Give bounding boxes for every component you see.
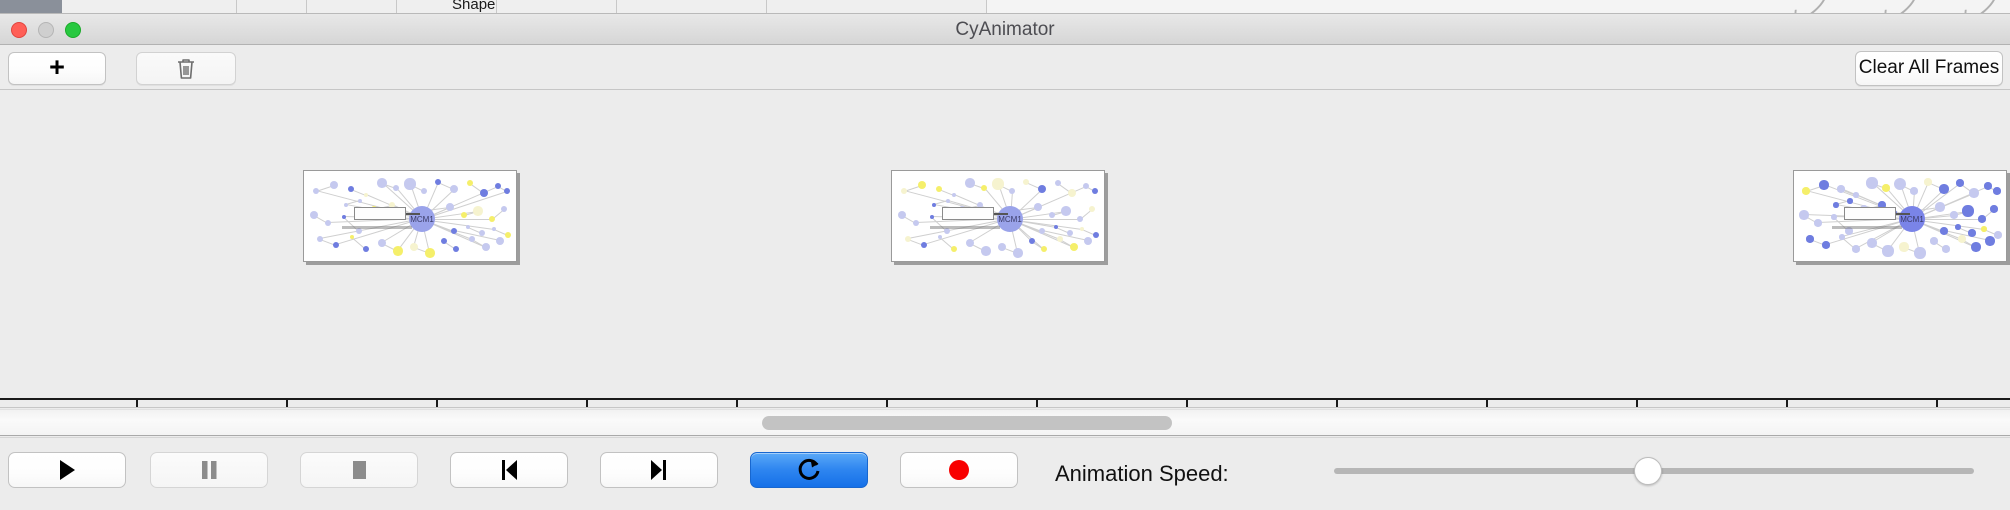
network-node — [330, 181, 338, 189]
network-node — [951, 246, 957, 252]
network-node — [313, 188, 319, 194]
network-node — [965, 178, 975, 188]
network-node — [421, 188, 427, 194]
network-thumbnail: MCM1 — [892, 171, 1104, 261]
network-node — [1882, 184, 1889, 191]
tick-major — [1786, 400, 1788, 408]
background-window-cell-1 — [62, 0, 237, 14]
network-node — [918, 181, 926, 189]
network-node — [310, 211, 318, 219]
network-node — [1093, 232, 1099, 238]
tick-minor — [736, 400, 738, 408]
tick-minor — [136, 400, 138, 408]
stop-button[interactable] — [300, 452, 418, 488]
tick-minor — [436, 400, 438, 408]
network-thumbnail: MCM1 — [304, 171, 516, 261]
network-node — [1969, 188, 1978, 197]
network-node — [496, 237, 504, 245]
network-node — [1814, 219, 1821, 226]
network-node — [921, 242, 927, 248]
network-caption — [1832, 226, 1902, 229]
network-node — [1993, 187, 2000, 194]
network-thumbnail: MCM1 — [1794, 171, 2006, 261]
animation-speed-label: Animation Speed: — [1055, 461, 1229, 487]
network-node — [1978, 215, 1985, 222]
trash-icon — [175, 57, 197, 81]
network-node — [1833, 202, 1839, 208]
network-node — [1939, 184, 1948, 193]
tick-minor — [1636, 400, 1638, 408]
network-node — [1853, 192, 1859, 198]
network-tooltip-pointer — [994, 213, 1008, 215]
skip-forward-icon — [647, 457, 671, 483]
network-node — [998, 243, 1006, 251]
loop-icon — [796, 456, 822, 484]
network-node — [1942, 245, 1949, 252]
background-window-strip: Shape — [0, 0, 2010, 14]
network-node — [1067, 230, 1073, 236]
tick-minor — [1336, 400, 1338, 408]
network-node — [1882, 245, 1893, 256]
background-window-label: Shape — [452, 0, 495, 13]
skip-back-icon — [497, 457, 521, 483]
network-node — [1955, 224, 1961, 230]
toolbar: + Clear All Frames — [0, 46, 2010, 90]
network-node — [377, 178, 387, 188]
network-tooltip-pointer — [406, 213, 420, 215]
network-node — [1061, 206, 1071, 216]
network-node — [1940, 227, 1947, 234]
network-node — [333, 242, 339, 248]
network-caption — [342, 226, 412, 229]
network-node — [966, 239, 974, 247]
record-button[interactable] — [900, 452, 1018, 488]
network-node — [1068, 189, 1076, 197]
pause-button[interactable] — [150, 452, 268, 488]
network-node — [325, 220, 331, 226]
network-node — [1956, 179, 1963, 186]
tick-major — [1486, 400, 1488, 408]
network-node — [1041, 246, 1047, 252]
background-window-cell-7 — [767, 0, 987, 14]
window-title: CyAnimator — [0, 19, 2010, 41]
network-node — [1994, 231, 2001, 238]
network-node — [446, 203, 454, 211]
network-hub-node: MCM1 — [1899, 206, 1925, 232]
network-caption — [930, 226, 1000, 229]
network-node — [473, 206, 483, 216]
network-node — [1962, 205, 1973, 216]
network-node — [1910, 187, 1917, 194]
timeline-scrollbar[interactable] — [0, 409, 2010, 436]
network-node — [1034, 203, 1042, 211]
network-node — [480, 189, 488, 197]
tick-major — [286, 400, 288, 408]
network-node — [1924, 178, 1931, 185]
network-tooltip-pointer — [1896, 213, 1910, 215]
keyframe-thumbnail-1[interactable]: MCM1 — [303, 170, 517, 262]
network-node — [1958, 235, 1965, 242]
background-window-titlebar — [0, 0, 62, 14]
network-node — [981, 246, 991, 256]
tick-major — [586, 400, 588, 408]
network-node — [501, 206, 507, 212]
network-node — [404, 178, 415, 189]
network-node — [1819, 180, 1828, 189]
network-node — [1089, 206, 1095, 212]
playback-control-bar: Animation Speed: — [0, 437, 2010, 510]
network-node — [1847, 198, 1853, 204]
plus-icon: + — [49, 54, 65, 81]
network-node — [1990, 205, 1997, 212]
network-node — [1981, 226, 1987, 232]
network-tooltip-box — [354, 207, 406, 220]
clear-all-frames-button[interactable]: Clear All Frames — [1855, 51, 2003, 86]
background-network-edge-1 — [1789, 0, 1833, 14]
network-node — [453, 246, 459, 252]
network-node — [1935, 202, 1944, 211]
network-node — [1984, 182, 1991, 189]
network-node — [1092, 188, 1098, 194]
network-hub-node: MCM1 — [409, 206, 435, 232]
network-node — [363, 246, 369, 252]
network-node — [364, 193, 369, 198]
network-node — [1867, 238, 1876, 247]
tick-minor — [1936, 400, 1938, 408]
add-frame-button[interactable]: + — [8, 52, 106, 85]
background-window-cell-6 — [617, 0, 767, 14]
background-window-cell-3 — [307, 0, 397, 14]
tick-minor — [1036, 400, 1038, 408]
network-node — [1049, 212, 1055, 218]
title-bar: CyAnimator — [0, 14, 2010, 45]
network-node — [1930, 237, 1937, 244]
keyframe-thumbnail-3[interactable]: MCM1 — [1793, 170, 2007, 262]
record-icon — [946, 457, 972, 483]
network-node — [932, 203, 937, 208]
network-node — [898, 211, 906, 219]
network-node — [1831, 214, 1837, 220]
network-node — [1968, 229, 1975, 236]
network-tooltip-box — [942, 207, 994, 220]
network-node — [1070, 243, 1078, 251]
network-node — [1852, 245, 1859, 252]
network-hub-node: MCM1 — [997, 206, 1023, 232]
network-node — [1013, 248, 1023, 258]
network-node — [901, 188, 907, 194]
timeline-axis — [0, 398, 2010, 400]
network-node — [450, 185, 458, 193]
network-node — [1839, 234, 1845, 240]
network-node — [344, 203, 349, 208]
network-node — [378, 239, 386, 247]
network-node — [1899, 242, 1908, 251]
tick-major — [886, 400, 888, 408]
network-node — [1084, 237, 1092, 245]
network-node — [952, 193, 957, 198]
network-node — [505, 232, 511, 238]
background-network-edge-3 — [1959, 0, 2003, 14]
network-node — [1837, 185, 1844, 192]
network-node — [1799, 210, 1808, 219]
background-window-cell-2 — [237, 0, 307, 14]
background-network-edge-2 — [1879, 0, 1923, 14]
network-node — [425, 248, 435, 258]
delete-frame-button[interactable] — [136, 52, 236, 85]
network-node — [1914, 247, 1925, 258]
timeline-scrollbar-thumb[interactable] — [762, 416, 1172, 430]
network-node — [1822, 241, 1829, 248]
skip-to-end-button[interactable] — [600, 452, 718, 488]
network-node — [1985, 236, 1994, 245]
network-node — [461, 212, 467, 218]
stop-icon — [347, 457, 371, 483]
play-button[interactable] — [8, 452, 126, 488]
network-node — [489, 216, 495, 222]
timeline-panel[interactable]: MCM1MCM1MCM1 12131415161718 Seconds — [0, 90, 2010, 408]
network-node — [1038, 185, 1046, 193]
network-node — [479, 230, 485, 236]
pause-icon — [197, 457, 221, 483]
loop-button[interactable] — [750, 452, 868, 488]
network-node — [1894, 178, 1907, 191]
network-node — [504, 188, 510, 194]
network-node — [1971, 242, 1980, 251]
keyframe-thumbnail-2[interactable]: MCM1 — [891, 170, 1105, 262]
network-node — [482, 243, 490, 251]
network-node — [1866, 177, 1877, 188]
background-window-cell-5 — [497, 0, 617, 14]
animation-speed-thumb[interactable] — [1634, 457, 1662, 485]
network-node — [1950, 211, 1957, 218]
network-node — [393, 246, 403, 256]
network-node — [1802, 187, 1809, 194]
network-node — [1806, 235, 1813, 242]
animation-speed-slider[interactable] — [1334, 468, 1974, 474]
cyanimator-window: Shape CyAnimator + Clear All Frames MCM1… — [0, 0, 2010, 510]
network-node — [913, 220, 919, 226]
skip-to-start-button[interactable] — [450, 452, 568, 488]
network-tooltip-box — [1844, 207, 1896, 220]
network-node — [1009, 188, 1015, 194]
tick-major — [1186, 400, 1188, 408]
network-node — [410, 243, 418, 251]
network-node — [992, 178, 1003, 189]
play-icon — [55, 457, 79, 483]
network-node — [1077, 216, 1083, 222]
